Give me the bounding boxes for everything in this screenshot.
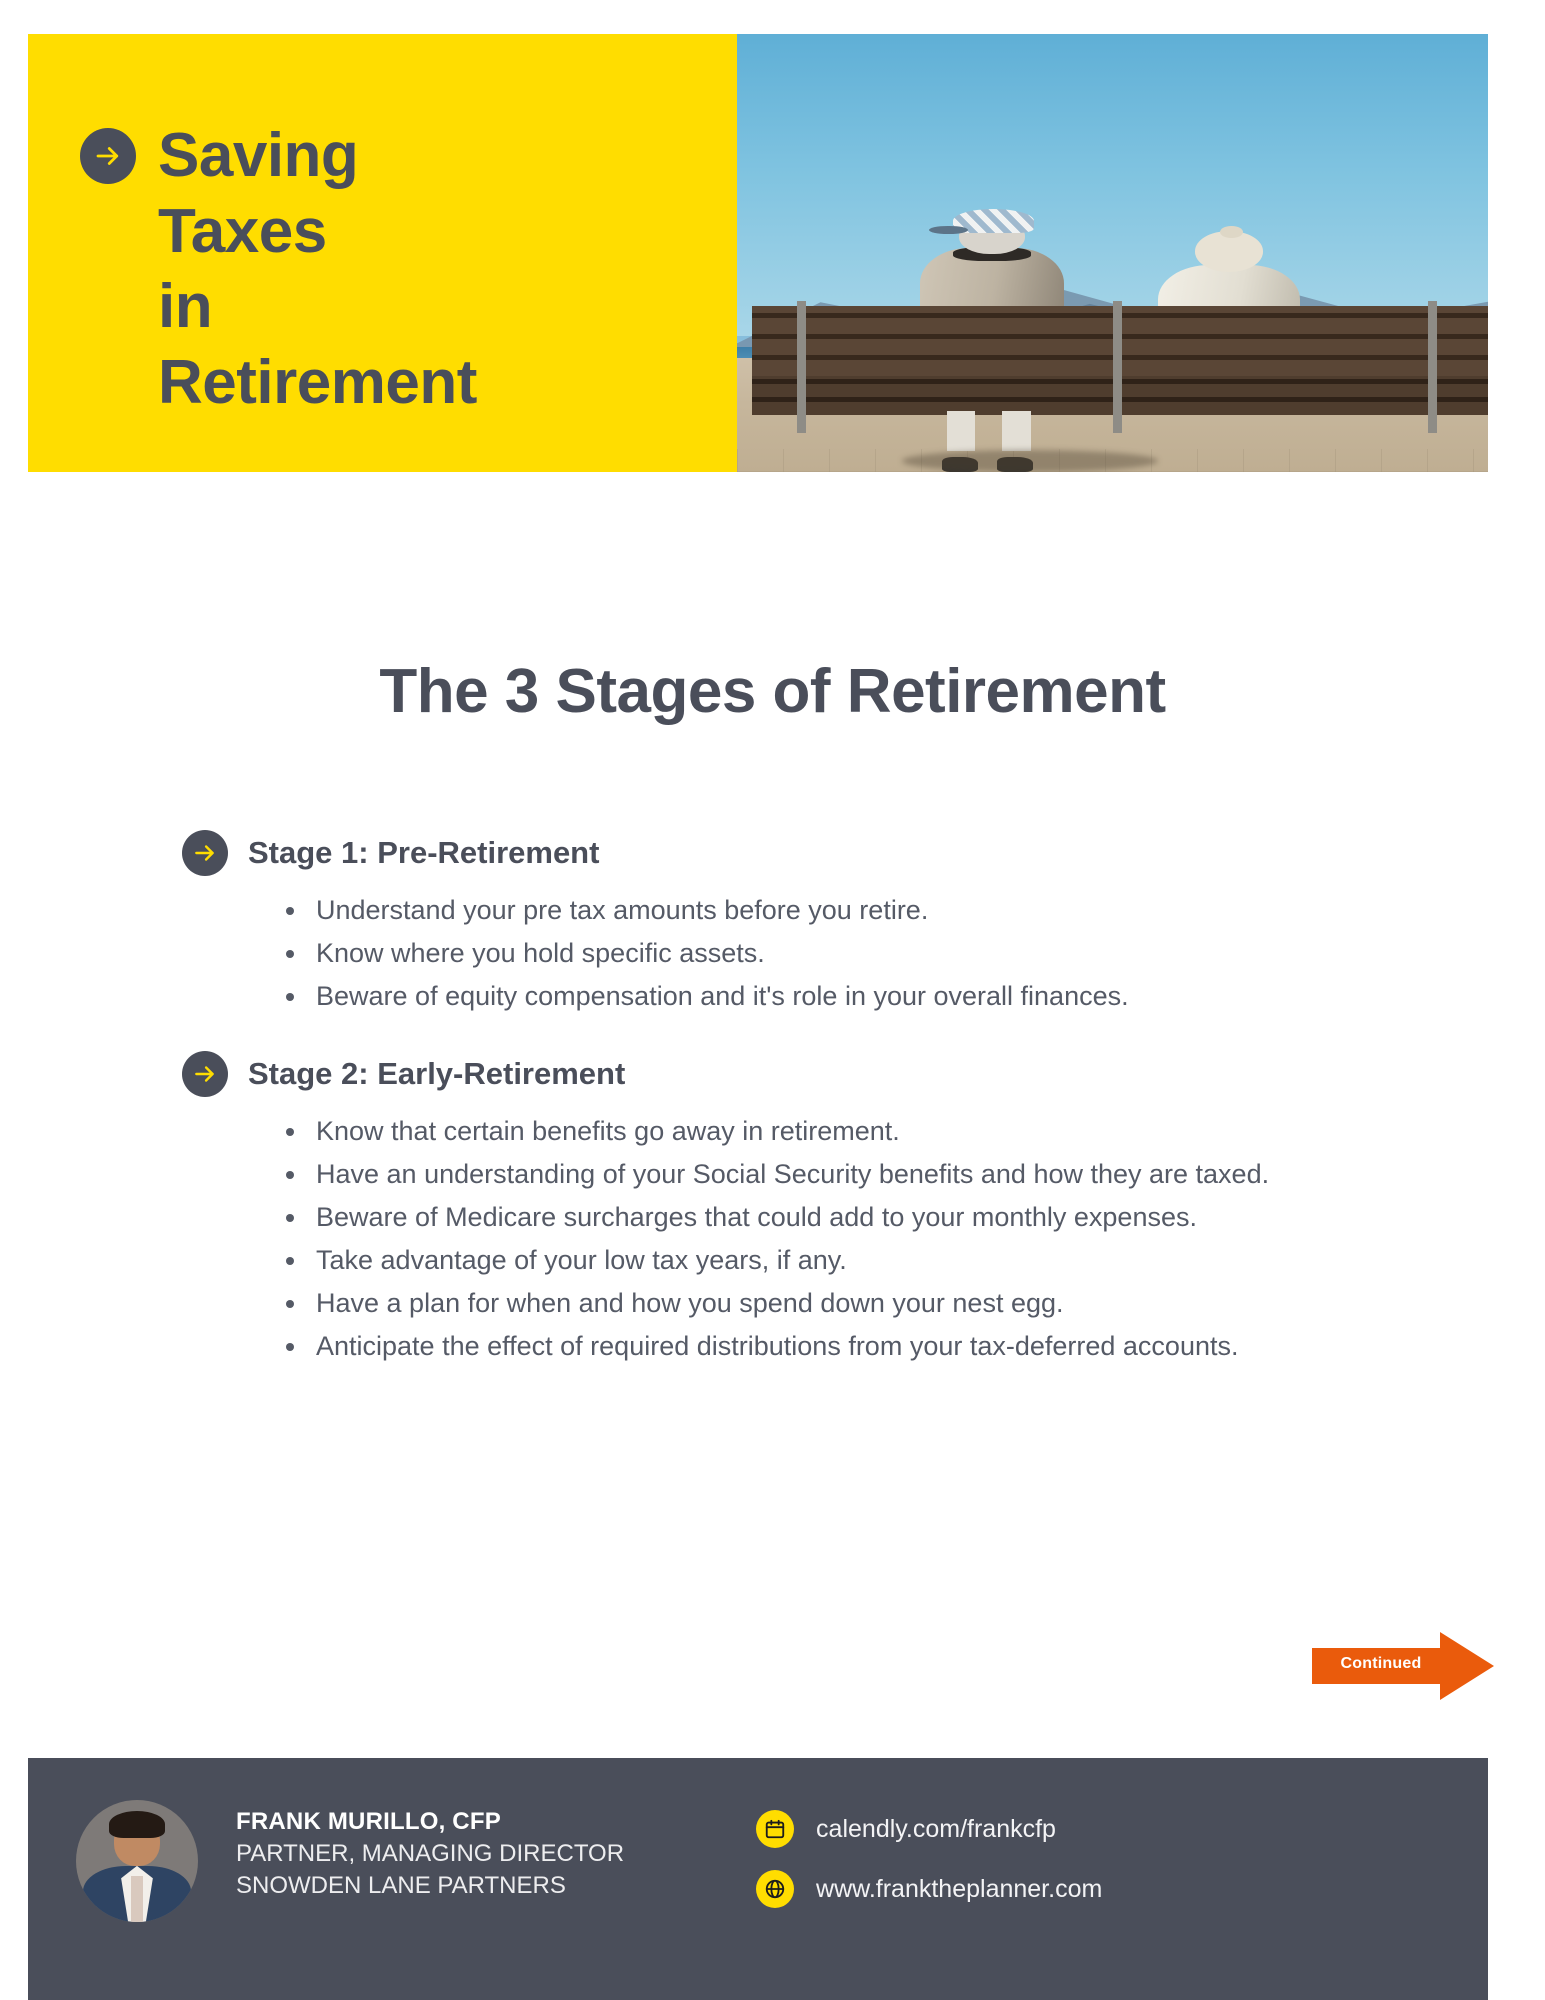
stage-section-1: Stage 1: Pre-Retirement Understand your … <box>182 830 1412 1017</box>
photo-bench-leg <box>797 301 806 432</box>
title-first-line: Saving <box>80 118 737 194</box>
avatar <box>76 1800 198 1922</box>
photo-shadow <box>902 450 1157 472</box>
stage-2-header: Stage 2: Early-Retirement <box>182 1051 1412 1097</box>
stage-section-2: Stage 2: Early-Retirement Know that cert… <box>182 1051 1412 1367</box>
header-banner: Saving Taxes in Retirement <box>28 34 1488 472</box>
infographic-page: Saving Taxes in Retirement <box>0 0 1545 2000</box>
calendly-link[interactable]: calendly.com/frankcfp <box>816 1815 1056 1844</box>
contact-role: PARTNER, MANAGING DIRECTOR <box>236 1838 624 1870</box>
contact-name: FRANK MURILLO, CFP <box>236 1806 624 1838</box>
list-item: Know where you hold specific assets. <box>286 933 1412 974</box>
website-link[interactable]: www.franktheplanner.com <box>816 1875 1102 1904</box>
header-title-block: Saving Taxes in Retirement <box>28 34 737 472</box>
stage-2-title: Stage 2: Early-Retirement <box>248 1056 625 1092</box>
calendar-icon <box>756 1810 794 1848</box>
list-item: Take advantage of your low tax years, if… <box>286 1240 1412 1281</box>
photo-bench-leg <box>1113 301 1122 432</box>
arrow-right-icon <box>182 830 228 876</box>
title-word-2: Taxes <box>158 194 737 270</box>
arrow-right-icon <box>80 128 136 184</box>
contact-row-calendly[interactable]: calendly.com/frankcfp <box>756 1810 1102 1848</box>
globe-icon <box>756 1870 794 1908</box>
stage-1-bullets: Understand your pre tax amounts before y… <box>182 890 1412 1017</box>
contact-company: SNOWDEN LANE PARTNERS <box>236 1870 624 1902</box>
title-remaining-lines: Taxes in Retirement <box>80 194 737 421</box>
list-item: Have a plan for when and how you spend d… <box>286 1283 1412 1324</box>
title-word-1: Saving <box>158 118 358 194</box>
stages-list: Stage 1: Pre-Retirement Understand your … <box>182 830 1412 1401</box>
continued-arrow[interactable]: Continued <box>1298 1630 1496 1702</box>
title-word-3: in <box>158 269 737 345</box>
contact-links: calendly.com/frankcfp www.franktheplanne… <box>756 1800 1102 1930</box>
arrow-right-icon <box>182 1051 228 1097</box>
stage-1-title: Stage 1: Pre-Retirement <box>248 835 599 871</box>
contact-row-website[interactable]: www.franktheplanner.com <box>756 1870 1102 1908</box>
header-photo <box>737 34 1488 472</box>
continued-label: Continued <box>1326 1655 1436 1673</box>
list-item: Understand your pre tax amounts before y… <box>286 890 1412 931</box>
list-item: Know that certain benefits go away in re… <box>286 1111 1412 1152</box>
page-title: The 3 Stages of Retirement <box>0 656 1545 727</box>
list-item: Beware of equity compensation and it's r… <box>286 976 1412 1017</box>
stage-1-header: Stage 1: Pre-Retirement <box>182 830 1412 876</box>
list-item: Have an understanding of your Social Sec… <box>286 1154 1412 1195</box>
list-item: Anticipate the effect of required distri… <box>286 1326 1412 1367</box>
title-word-4: Retirement <box>158 345 737 421</box>
stage-2-bullets: Know that certain benefits go away in re… <box>182 1111 1412 1367</box>
list-item: Beware of Medicare surcharges that could… <box>286 1197 1412 1238</box>
contact-identity: FRANK MURILLO, CFP PARTNER, MANAGING DIR… <box>236 1800 624 1902</box>
photo-bench-leg <box>1428 301 1437 432</box>
footer-bar: FRANK MURILLO, CFP PARTNER, MANAGING DIR… <box>28 1758 1488 2000</box>
